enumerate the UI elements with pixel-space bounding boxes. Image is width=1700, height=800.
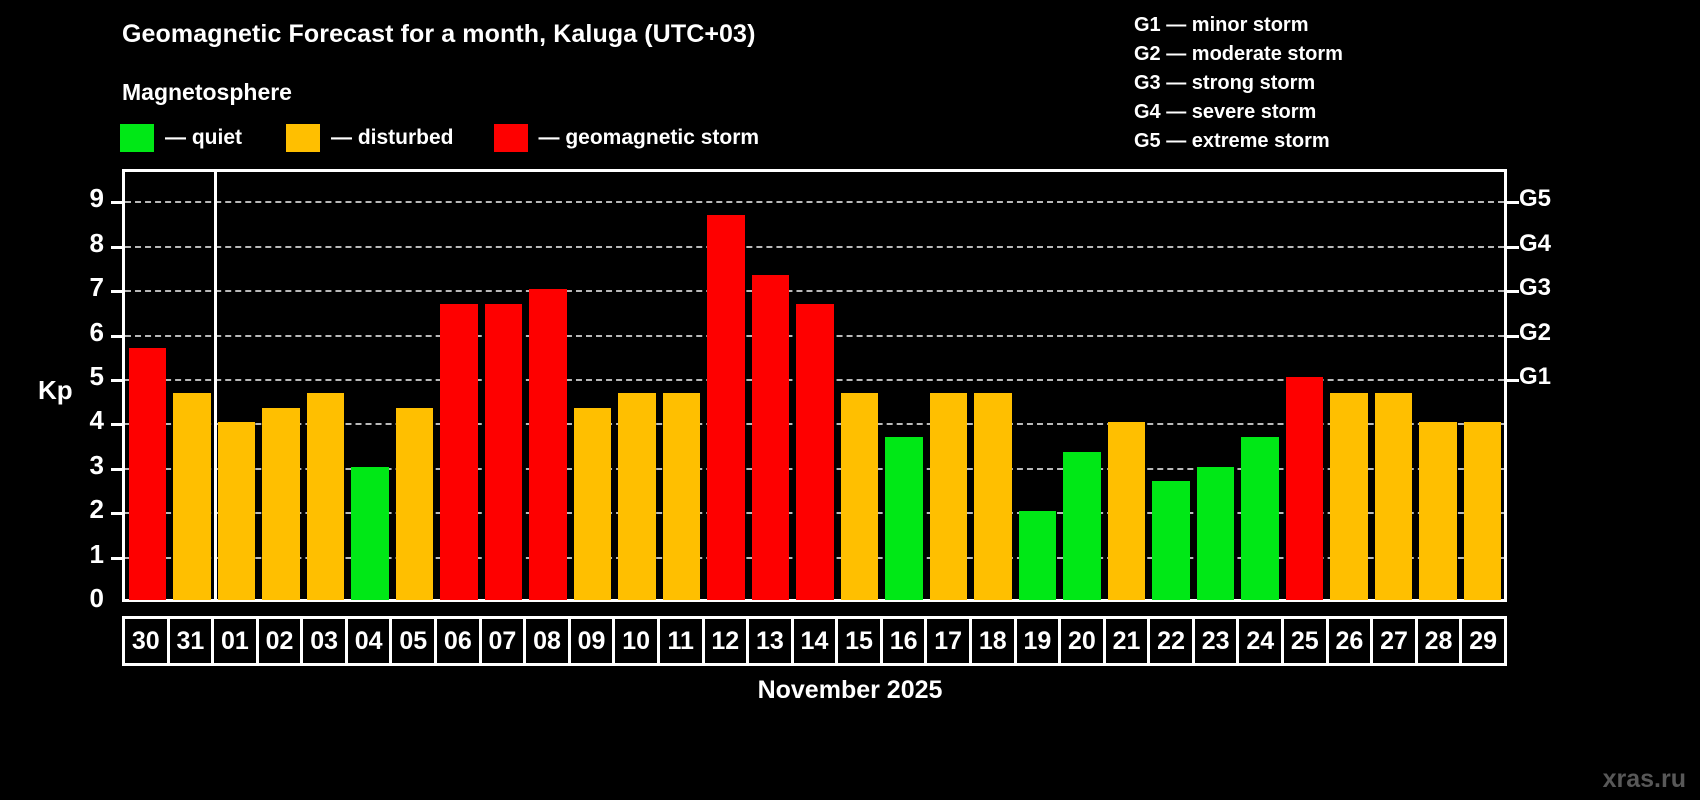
bar-31[interactable] xyxy=(173,393,211,600)
day-label-08[interactable]: 08 xyxy=(526,619,571,663)
g-axis-tick xyxy=(1507,246,1519,249)
bar-series xyxy=(125,172,1505,600)
day-label-27[interactable]: 27 xyxy=(1373,619,1418,663)
g-axis-tick xyxy=(1507,379,1519,382)
day-label-13[interactable]: 13 xyxy=(749,619,794,663)
bar-21[interactable] xyxy=(1108,422,1146,600)
y-axis-tick-label: 1 xyxy=(68,539,104,570)
bar-cell[interactable] xyxy=(526,172,571,600)
g-axis-tick-label: G1 xyxy=(1519,363,1551,391)
bar-cell[interactable] xyxy=(1104,172,1149,600)
bar-cell[interactable] xyxy=(615,172,660,600)
bar-cell[interactable] xyxy=(1193,172,1238,600)
bar-23[interactable] xyxy=(1197,467,1235,600)
y-axis-tick xyxy=(111,201,123,204)
bar-cell[interactable] xyxy=(125,172,170,600)
watermark: xras.ru xyxy=(1603,765,1686,794)
bar-10[interactable] xyxy=(618,393,656,600)
x-axis-title: November 2025 xyxy=(0,676,1700,705)
g-axis-tick xyxy=(1507,201,1519,204)
g-axis-tick-label: G4 xyxy=(1519,230,1551,258)
y-axis-tick-label: 8 xyxy=(68,228,104,259)
bar-cell[interactable] xyxy=(214,172,259,600)
g-scale-row: G2 — moderate storm xyxy=(1134,40,1343,69)
y-axis-tick xyxy=(111,335,123,338)
bar-26[interactable] xyxy=(1330,393,1368,600)
bar-30[interactable] xyxy=(129,348,167,600)
bar-19[interactable] xyxy=(1019,511,1057,600)
y-axis-tick xyxy=(111,423,123,426)
g-scale-legend: G1 — minor storm G2 — moderate storm G3 … xyxy=(1134,11,1343,156)
bar-20[interactable] xyxy=(1063,452,1101,600)
bar-02[interactable] xyxy=(262,408,300,600)
g-axis-tick-label: G3 xyxy=(1519,274,1551,302)
bar-13[interactable] xyxy=(752,275,790,600)
disturbed-swatch-icon xyxy=(286,124,320,152)
y-axis-tick xyxy=(111,468,123,471)
bar-cell[interactable] xyxy=(170,172,215,600)
legend-label-disturbed: — disturbed xyxy=(331,126,454,150)
bar-29[interactable] xyxy=(1464,422,1502,600)
legend-item-storm: — geomagnetic storm xyxy=(494,124,760,152)
day-label-22[interactable]: 22 xyxy=(1150,619,1195,663)
y-axis-tick-label: 0 xyxy=(68,583,104,614)
section-subtitle: Magnetosphere xyxy=(122,79,292,106)
bar-06[interactable] xyxy=(440,304,478,600)
bar-cell[interactable] xyxy=(748,172,793,600)
g-axis-tick-label: G2 xyxy=(1519,319,1551,347)
y-axis-tick xyxy=(111,512,123,515)
y-axis-tick xyxy=(111,557,123,560)
quiet-swatch-icon xyxy=(120,124,154,152)
y-axis-tick-label: 2 xyxy=(68,494,104,525)
g-scale-row: G4 — severe storm xyxy=(1134,98,1343,127)
day-label-25[interactable]: 25 xyxy=(1284,619,1329,663)
page-title: Geomagnetic Forecast for a month, Kaluga… xyxy=(122,20,756,49)
bar-15[interactable] xyxy=(841,393,879,600)
bar-05[interactable] xyxy=(396,408,434,600)
day-label-18[interactable]: 18 xyxy=(972,619,1017,663)
day-label-06[interactable]: 06 xyxy=(437,619,482,663)
legend-item-quiet: — quiet xyxy=(120,124,242,152)
legend-label-quiet: — quiet xyxy=(165,126,242,150)
bar-25[interactable] xyxy=(1286,377,1324,600)
day-label-16[interactable]: 16 xyxy=(883,619,928,663)
day-label-20[interactable]: 20 xyxy=(1061,619,1106,663)
day-label-17[interactable]: 17 xyxy=(927,619,972,663)
geomagnetic-forecast-chart: Geomagnetic Forecast for a month, Kaluga… xyxy=(0,0,1700,800)
bar-cell[interactable] xyxy=(837,172,882,600)
bar-cell[interactable] xyxy=(481,172,526,600)
g-scale-row: G1 — minor storm xyxy=(1134,11,1343,40)
y-axis-tick-label: 7 xyxy=(68,272,104,303)
bar-cell[interactable] xyxy=(437,172,482,600)
bar-cell[interactable] xyxy=(1282,172,1327,600)
bar-24[interactable] xyxy=(1241,437,1279,600)
day-label-07[interactable]: 07 xyxy=(482,619,527,663)
bar-cell[interactable] xyxy=(1371,172,1416,600)
g-axis-tick xyxy=(1507,335,1519,338)
day-label-12[interactable]: 12 xyxy=(705,619,750,663)
day-label-05[interactable]: 05 xyxy=(392,619,437,663)
day-label-15[interactable]: 15 xyxy=(838,619,883,663)
y-axis-tick xyxy=(111,246,123,249)
y-axis-tick-label: 5 xyxy=(68,361,104,392)
bar-cell[interactable] xyxy=(659,172,704,600)
day-label-23[interactable]: 23 xyxy=(1195,619,1240,663)
y-axis-tick-label: 4 xyxy=(68,405,104,436)
bar-cell[interactable] xyxy=(1460,172,1505,600)
day-label-31[interactable]: 31 xyxy=(170,619,215,663)
day-label-03[interactable]: 03 xyxy=(303,619,348,663)
y-axis-tick xyxy=(111,290,123,293)
month-boundary-line xyxy=(214,169,217,602)
bar-01[interactable] xyxy=(218,422,256,600)
bar-cell[interactable] xyxy=(1327,172,1372,600)
day-label-24[interactable]: 24 xyxy=(1239,619,1284,663)
y-axis-tick-label: 9 xyxy=(68,183,104,214)
legend-label-storm: — geomagnetic storm xyxy=(539,126,760,150)
y-axis-tick xyxy=(111,379,123,382)
day-label-09[interactable]: 09 xyxy=(571,619,616,663)
bar-cell[interactable] xyxy=(348,172,393,600)
bar-cell[interactable] xyxy=(1015,172,1060,600)
bar-cell[interactable] xyxy=(926,172,971,600)
bar-03[interactable] xyxy=(307,393,345,600)
bar-11[interactable] xyxy=(663,393,701,600)
bar-17[interactable] xyxy=(930,393,968,600)
x-axis-day-strip: 3031010203040506070809101112131415161718… xyxy=(122,616,1507,666)
bar-cell[interactable] xyxy=(303,172,348,600)
day-label-01[interactable]: 01 xyxy=(214,619,259,663)
day-label-11[interactable]: 11 xyxy=(660,619,705,663)
bar-12[interactable] xyxy=(707,215,745,600)
bar-07[interactable] xyxy=(485,304,523,600)
bar-08[interactable] xyxy=(529,289,567,600)
day-label-28[interactable]: 28 xyxy=(1418,619,1463,663)
g-scale-row: G3 — strong storm xyxy=(1134,69,1343,98)
day-label-29[interactable]: 29 xyxy=(1462,619,1504,663)
bar-cell[interactable] xyxy=(704,172,749,600)
bar-27[interactable] xyxy=(1375,393,1413,600)
day-label-10[interactable]: 10 xyxy=(615,619,660,663)
bar-cell[interactable] xyxy=(1149,172,1194,600)
g-scale-row: G5 — extreme storm xyxy=(1134,127,1343,156)
bar-14[interactable] xyxy=(796,304,834,600)
bar-cell[interactable] xyxy=(1238,172,1283,600)
g-axis-tick-label: G5 xyxy=(1519,185,1551,213)
bar-16[interactable] xyxy=(885,437,923,600)
bar-04[interactable] xyxy=(351,467,389,600)
bar-09[interactable] xyxy=(574,408,612,600)
day-label-21[interactable]: 21 xyxy=(1106,619,1151,663)
bar-cell[interactable] xyxy=(1060,172,1105,600)
bar-cell[interactable] xyxy=(1416,172,1461,600)
bar-18[interactable] xyxy=(974,393,1012,600)
bar-28[interactable] xyxy=(1419,422,1457,600)
y-axis-tick-label: 6 xyxy=(68,317,104,348)
g-axis-tick xyxy=(1507,290,1519,293)
day-label-04[interactable]: 04 xyxy=(348,619,393,663)
bar-cell[interactable] xyxy=(392,172,437,600)
storm-swatch-icon xyxy=(494,124,528,152)
legend-item-disturbed: — disturbed xyxy=(286,124,454,152)
day-label-19[interactable]: 19 xyxy=(1017,619,1062,663)
day-label-30[interactable]: 30 xyxy=(125,619,170,663)
bar-cell[interactable] xyxy=(882,172,927,600)
day-label-26[interactable]: 26 xyxy=(1329,619,1374,663)
day-label-02[interactable]: 02 xyxy=(259,619,304,663)
bar-22[interactable] xyxy=(1152,481,1190,600)
bar-cell[interactable] xyxy=(570,172,615,600)
bar-cell[interactable] xyxy=(793,172,838,600)
bar-cell[interactable] xyxy=(971,172,1016,600)
bar-cell[interactable] xyxy=(259,172,304,600)
y-axis-tick-label: 3 xyxy=(68,450,104,481)
day-label-14[interactable]: 14 xyxy=(794,619,839,663)
legend: — quiet — disturbed — geomagnetic storm xyxy=(120,124,759,152)
